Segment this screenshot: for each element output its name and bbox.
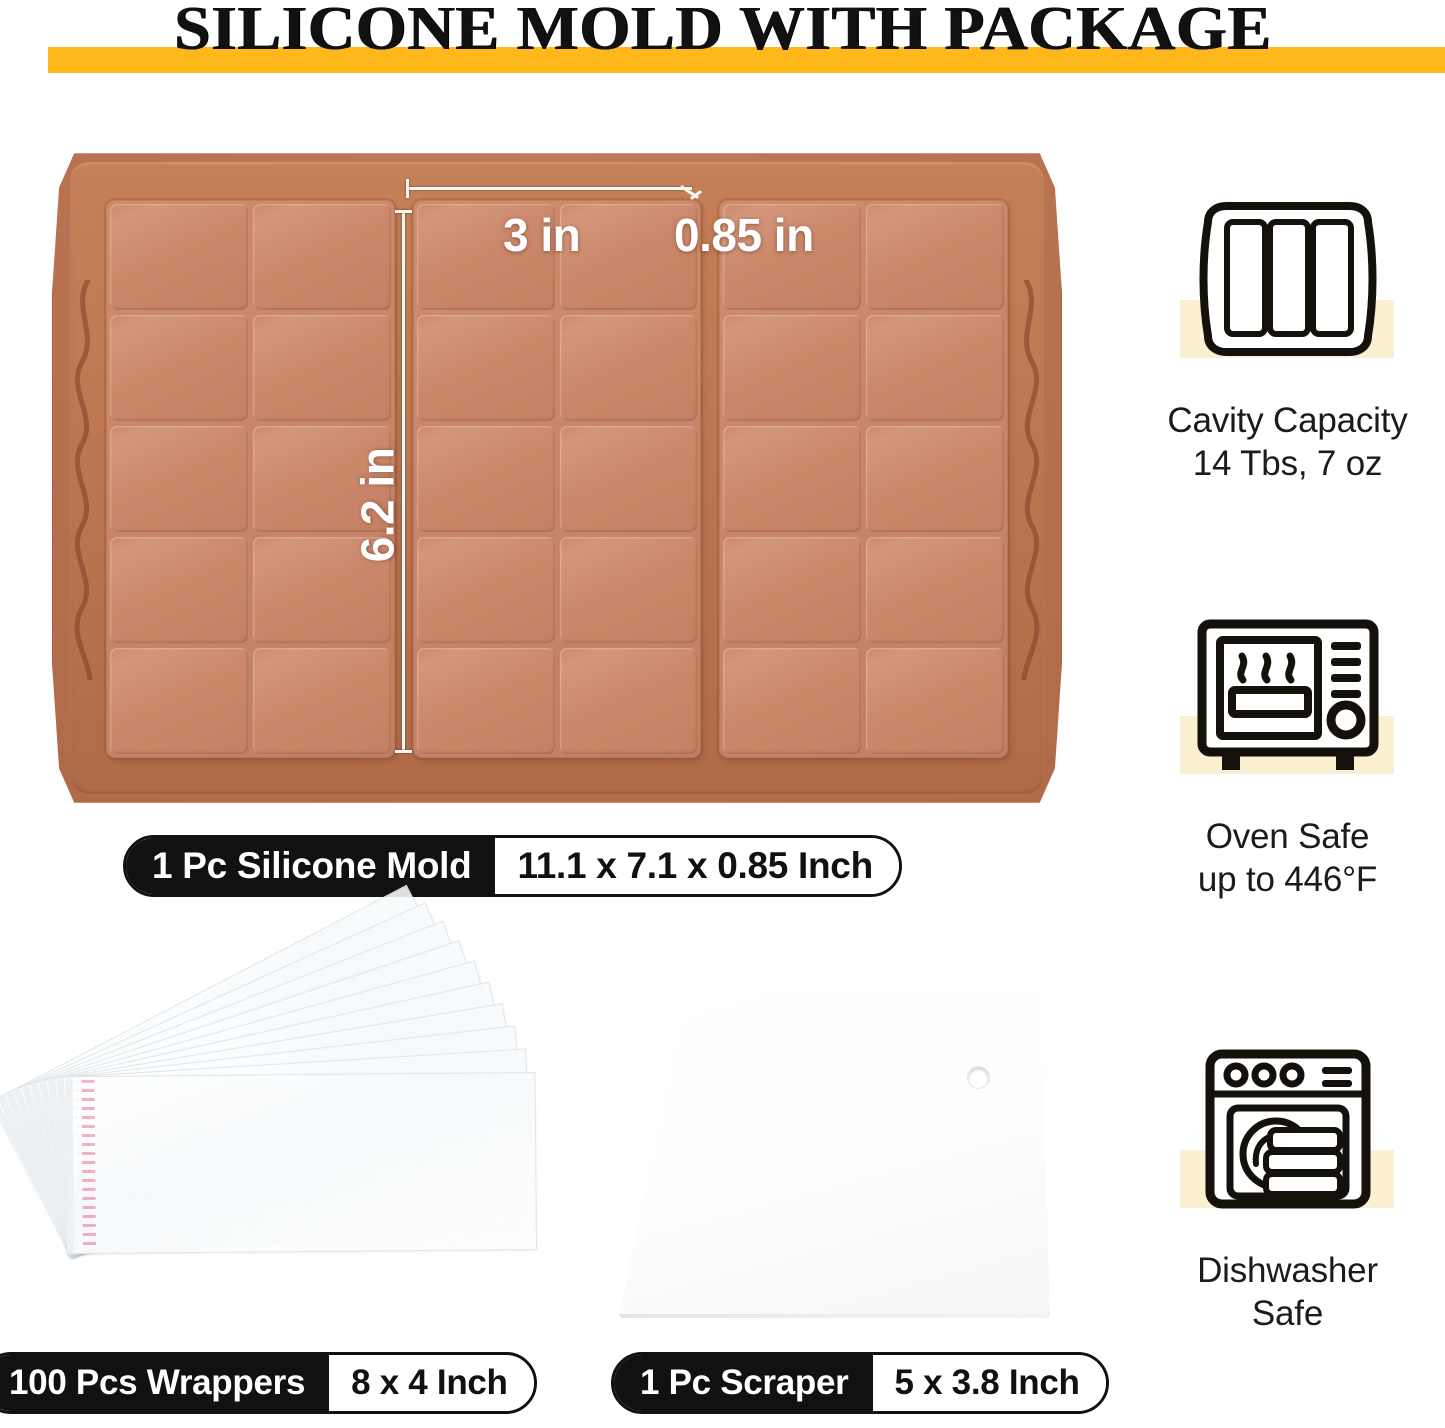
silicone-mold-illustration: 3 in 0.85 in 6.2 in [52, 148, 1062, 808]
mold-cell [723, 648, 861, 754]
mold-cell [866, 648, 1004, 754]
dimension-line-width [406, 187, 692, 190]
page-title: SILICONE MOLD WITH PACKAGE [0, 0, 1445, 65]
mold-cell [560, 648, 698, 754]
mold-bar-cavity [413, 200, 702, 758]
mold-cell [866, 426, 1004, 532]
feature-cavity-capacity: Cavity Capacity 14 Tbs, 7 oz [1130, 196, 1445, 485]
scraper-blade [610, 988, 1050, 1318]
feature-dishwasher-safe-text: Dishwasher Safe [1130, 1250, 1445, 1335]
wrapper-bag [66, 1072, 538, 1254]
mold-cell [560, 315, 698, 421]
mold-cell [253, 648, 391, 754]
feature-dishwasher-safe: Dishwasher Safe [1130, 1046, 1445, 1335]
mold-cell [866, 537, 1004, 643]
dimension-label-thickness: 0.85 in [674, 208, 814, 262]
mold-cell [417, 315, 555, 421]
dimension-arrow-thickness-icon [680, 178, 702, 200]
spec-pill-wrappers: 100 Pcs Wrappers 8 x 4 Inch [0, 1352, 537, 1414]
feature-line-1: Oven Safe [1206, 817, 1370, 856]
mold-bar-cavity [719, 200, 1008, 758]
mold-cell [417, 426, 555, 532]
oven-icon [1188, 612, 1388, 782]
feature-oven-safe: Oven Safe up to 446°F [1130, 612, 1445, 901]
mold-cell [110, 648, 248, 754]
mold-cell [723, 315, 861, 421]
spec-pill-mold-size: 11.1 x 7.1 x 0.85 Inch [495, 838, 898, 894]
spec-pill-scraper-quantity: 1 Pc Scraper [614, 1355, 873, 1411]
wrapper-adhesive-strip [82, 1080, 96, 1250]
mold-cell [110, 204, 248, 310]
mold-cell [110, 315, 248, 421]
feature-line-2: 14 Tbs, 7 oz [1130, 443, 1445, 486]
wrappers-illustration [45, 948, 565, 1318]
mold-cell [560, 426, 698, 532]
infographic-page: SILICONE MOLD WITH PACKAGE [0, 0, 1445, 1428]
mold-cell [253, 315, 391, 421]
mold-cell [723, 537, 861, 643]
dimension-label-width: 3 in [503, 208, 580, 262]
spec-pill-scraper-size: 5 x 3.8 Inch [873, 1355, 1106, 1411]
spec-pill-wrappers-size: 8 x 4 Inch [329, 1355, 534, 1411]
dimension-label-height: 6.2 in [350, 448, 404, 563]
mold-cell [866, 204, 1004, 310]
mold-cell [560, 537, 698, 643]
dimension-cap-width-left [406, 179, 409, 198]
scraper-illustration [610, 988, 1050, 1318]
feature-oven-safe-text: Oven Safe up to 446°F [1130, 816, 1445, 901]
mold-cell [110, 426, 248, 532]
scraper-edge [619, 1314, 1050, 1318]
mold-cavity-bars [106, 200, 1008, 758]
mold-cell [723, 426, 861, 532]
feature-line-2: up to 446°F [1130, 859, 1445, 902]
dishwasher-icon [1188, 1046, 1388, 1216]
mold-cell [417, 537, 555, 643]
title-band: SILICONE MOLD WITH PACKAGE [0, 0, 1445, 80]
mold-tray-three-cavity-icon [1188, 196, 1388, 366]
feature-line-1: Dishwasher [1197, 1251, 1378, 1290]
mold-cell [110, 537, 248, 643]
dimension-cap-height-top [395, 210, 412, 213]
scraper-hang-hole [967, 1066, 990, 1089]
dimension-cap-height-bottom [395, 750, 412, 753]
feature-cavity-capacity-text: Cavity Capacity 14 Tbs, 7 oz [1130, 400, 1445, 485]
feature-line-2: Safe [1130, 1293, 1445, 1336]
spec-pill-scraper: 1 Pc Scraper 5 x 3.8 Inch [611, 1352, 1109, 1414]
spec-pill-wrappers-quantity: 100 Pcs Wrappers [0, 1355, 329, 1411]
mold-cell [866, 315, 1004, 421]
feature-line-1: Cavity Capacity [1167, 401, 1407, 440]
spec-pill-mold-quantity: 1 Pc Silicone Mold [126, 838, 495, 894]
mold-cell [417, 648, 555, 754]
mold-cell [253, 204, 391, 310]
spec-pill-mold: 1 Pc Silicone Mold 11.1 x 7.1 x 0.85 Inc… [123, 835, 902, 897]
